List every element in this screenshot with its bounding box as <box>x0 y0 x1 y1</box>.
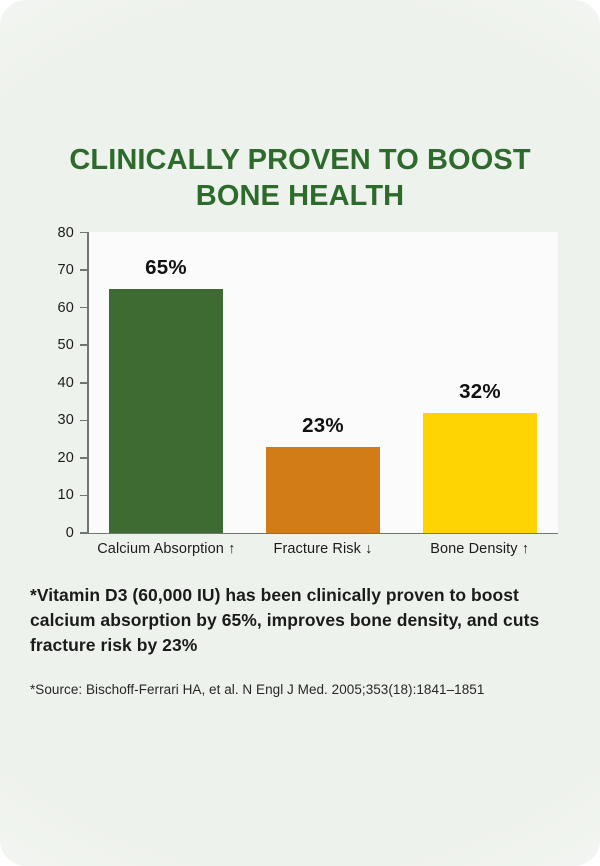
bar-1 <box>109 289 223 533</box>
y-axis-tick <box>80 232 88 234</box>
y-axis-tick <box>80 420 88 422</box>
y-axis-tick-label: 10 <box>34 488 74 503</box>
y-axis-tick-label: 50 <box>34 338 74 353</box>
y-axis-tick-label: 0 <box>34 526 74 541</box>
y-axis-tick <box>80 382 88 384</box>
bar-value-label-1: 65% <box>79 258 253 279</box>
bar-value-label-2: 23% <box>236 416 410 437</box>
bar-3 <box>423 413 537 533</box>
x-axis-category-label-3: Bone Density ↑ <box>370 540 590 558</box>
y-axis-tick <box>80 457 88 459</box>
disclaimer-text: *Vitamin D3 (60,000 IU) has been clinica… <box>30 583 570 658</box>
y-axis-tick-label: 80 <box>34 226 74 241</box>
infographic-card: Clinically Proven to Boost Bone Health 0… <box>0 0 600 866</box>
bone-health-bar-chart: 01020304050607080 65%23%32% Calcium Abso… <box>0 0 600 866</box>
y-axis-tick-label: 60 <box>34 301 74 316</box>
source-citation: *Source: Bischoff-Ferrari HA, et al. N E… <box>30 681 575 699</box>
y-axis-tick <box>80 307 88 309</box>
y-axis-tick-label: 30 <box>34 413 74 428</box>
y-axis-tick-label: 20 <box>34 451 74 466</box>
y-axis-tick <box>80 344 88 346</box>
y-axis-tick-label: 40 <box>34 376 74 391</box>
y-axis-tick <box>80 495 88 497</box>
y-axis-tick <box>80 532 88 534</box>
y-axis-tick-label: 70 <box>34 263 74 278</box>
bar-2 <box>266 447 380 533</box>
bar-value-label-3: 32% <box>393 382 567 403</box>
